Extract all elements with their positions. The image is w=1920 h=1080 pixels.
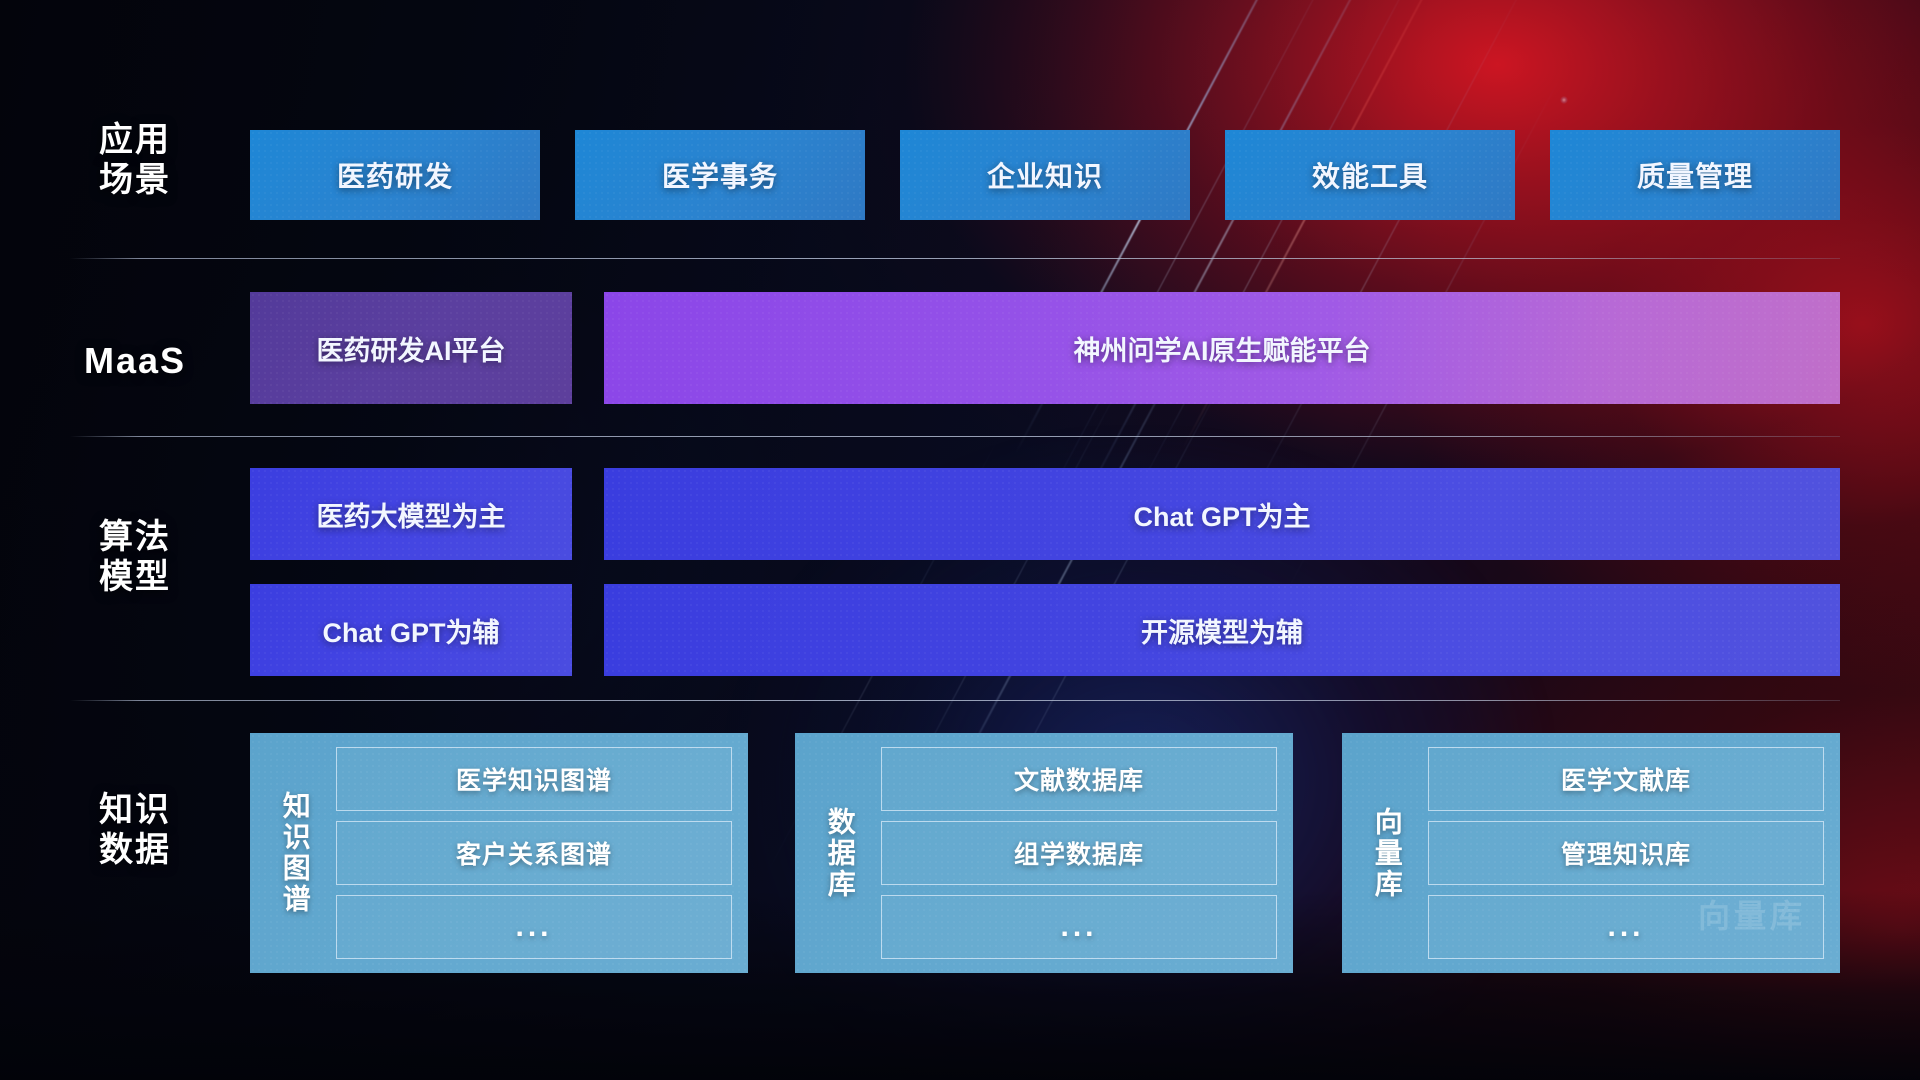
knowledge-panel-title-1: 数据库	[811, 747, 869, 959]
row-label-knowledge: 知识 数据	[70, 790, 200, 870]
knowledge-item-0-1[interactable]: 客户关系图谱	[336, 821, 732, 885]
row-label-algorithm: 算法 模型	[70, 517, 200, 597]
knowledge-panel-items-2: 医学文献库 管理知识库 ...	[1428, 747, 1824, 959]
knowledge-panel-knowledge-graph[interactable]: 知识图谱 医学知识图谱 客户关系图谱 ...	[250, 733, 748, 973]
algorithm-box-row0-right[interactable]: Chat GPT为主	[604, 468, 1840, 560]
knowledge-item-1-1[interactable]: 组学数据库	[881, 821, 1277, 885]
app-scenario-box-1[interactable]: 医学事务	[575, 130, 865, 220]
knowledge-item-2-0[interactable]: 医学文献库	[1428, 747, 1824, 811]
knowledge-panel-title-0: 知识图谱	[266, 747, 324, 959]
divider-application-maas	[70, 258, 1840, 259]
algorithm-box-row1-right[interactable]: 开源模型为辅	[604, 584, 1840, 676]
knowledge-item-1-0[interactable]: 文献数据库	[881, 747, 1277, 811]
app-scenario-box-3[interactable]: 效能工具	[1225, 130, 1515, 220]
knowledge-item-0-2[interactable]: ...	[336, 895, 732, 959]
algorithm-box-row0-left[interactable]: 医药大模型为主	[250, 468, 572, 560]
maas-platform-box-right[interactable]: 神州问学AI原生赋能平台	[604, 292, 1840, 404]
app-scenario-box-0[interactable]: 医药研发	[250, 130, 540, 220]
knowledge-item-1-2[interactable]: ...	[881, 895, 1277, 959]
maas-platform-box-left[interactable]: 医药研发AI平台	[250, 292, 572, 404]
app-scenario-box-2[interactable]: 企业知识	[900, 130, 1190, 220]
row-label-maas: MaaS	[70, 340, 200, 382]
knowledge-panel-items-0: 医学知识图谱 客户关系图谱 ...	[336, 747, 732, 959]
knowledge-panel-title-2: 向量库	[1358, 747, 1416, 959]
knowledge-panel-vector-store[interactable]: 向量库 医学文献库 管理知识库 ... 向量库	[1342, 733, 1840, 973]
knowledge-panel-database[interactable]: 数据库 文献数据库 组学数据库 ...	[795, 733, 1293, 973]
app-scenario-box-4[interactable]: 质量管理	[1550, 130, 1840, 220]
slide-canvas: 应用 场景 医药研发 医学事务 企业知识 效能工具 质量管理 MaaS 医药研发…	[0, 0, 1920, 1080]
knowledge-item-2-1[interactable]: 管理知识库	[1428, 821, 1824, 885]
divider-algorithm-knowledge	[70, 700, 1840, 701]
knowledge-panel-items-1: 文献数据库 组学数据库 ...	[881, 747, 1277, 959]
row-label-application: 应用 场景	[70, 120, 200, 200]
algorithm-box-row1-left[interactable]: Chat GPT为辅	[250, 584, 572, 676]
knowledge-item-2-2[interactable]: ...	[1428, 895, 1824, 959]
divider-maas-algorithm	[70, 436, 1840, 437]
knowledge-item-0-0[interactable]: 医学知识图谱	[336, 747, 732, 811]
